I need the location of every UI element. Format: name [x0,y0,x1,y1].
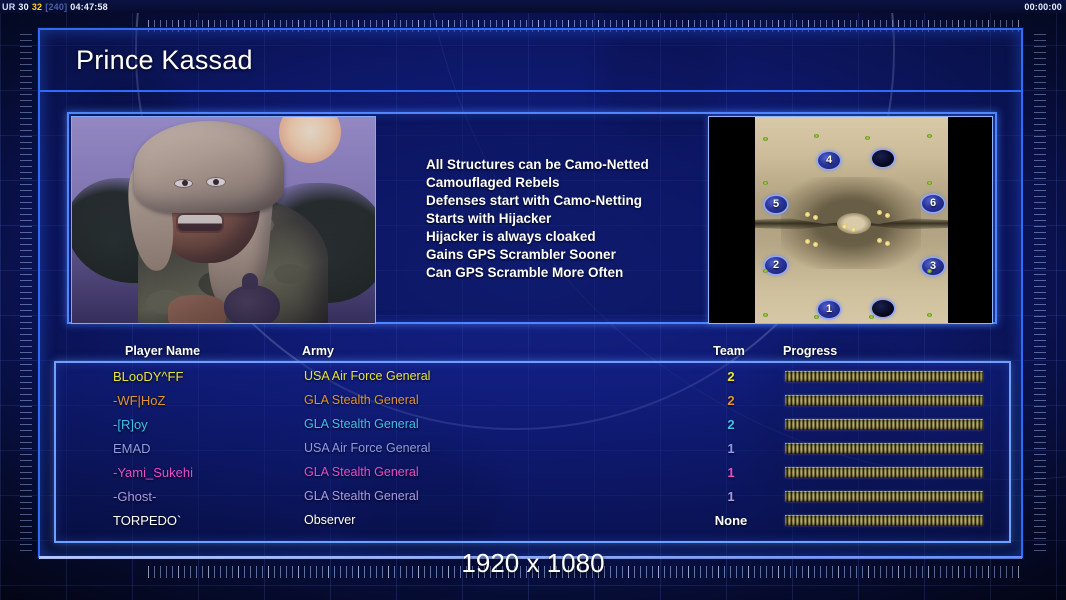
progress-bar [785,467,983,478]
portrait-color-tint [72,117,375,323]
status-clock-right: 00:00:00 [1024,2,1066,12]
progress-bar [785,443,983,454]
status-value-1: 30 [18,2,28,12]
table-row[interactable]: -Ghost-GLA Stealth General1 [56,484,1009,508]
player-army-cell: GLA Stealth General [304,489,689,503]
player-name-cell: -Yami_Sukehi [56,465,304,480]
column-header-army: Army [302,344,687,358]
map-oil-derrick-icon [877,238,882,243]
map-supply-icon [763,269,768,273]
player-army-cell: USA Air Force General [304,441,689,455]
progress-bar [785,491,983,502]
player-army-cell: GLA Stealth General [304,417,689,431]
map-oil-derrick-icon [813,242,818,247]
map-supply-icon [869,315,874,319]
player-team-cell: 2 [689,393,773,408]
ruler-left [20,34,32,554]
player-army-cell: Observer [304,513,689,527]
table-row[interactable]: TORPEDO`ObserverNone [56,508,1009,532]
player-name-cell: BLooDY^FF [56,369,304,384]
player-progress-cell [773,491,1009,502]
map-start-position-empty [872,150,894,167]
progress-bar [785,395,983,406]
table-row[interactable]: EMADUSA Air Force General1 [56,436,1009,460]
map-start-position-marker: 3 [922,258,944,275]
status-left-group: UR 30 32 [240] 04:47:58 [0,2,108,12]
player-name-cell: -WF|HoZ [56,393,304,408]
player-army-cell: GLA Stealth General [304,393,689,407]
player-team-cell: 1 [689,441,773,456]
map-supply-icon [814,134,819,138]
table-header-row: Player Name Army Team Progress [54,338,1011,360]
general-info-window: Prince Kassad All Structures can be Camo… [38,28,1023,558]
map-supply-icon [927,134,932,138]
ability-line: Defenses start with Camo-Netting [426,192,708,209]
player-progress-cell [773,443,1009,454]
player-name-cell: TORPEDO` [56,513,304,528]
ability-line: Camouflaged Rebels [426,174,708,191]
progress-bar [785,419,983,430]
progress-bar [785,371,983,382]
status-clock-left: 04:47:58 [70,2,108,12]
player-team-cell: None [689,513,773,528]
status-label-ur: UR [2,2,15,12]
map-start-position-empty [872,300,894,317]
map-oil-derrick-icon [885,213,890,218]
map-supply-icon [814,315,819,319]
column-header-progress: Progress [771,344,1011,358]
column-header-team: Team [687,344,771,358]
ruler-right [1034,34,1046,554]
player-team-cell: 2 [689,417,773,432]
ability-line: Hijacker is always cloaked [426,228,708,245]
player-progress-cell [773,467,1009,478]
ability-line: Starts with Hijacker [426,210,708,227]
map-oil-derrick-icon [851,227,856,232]
player-name-cell: EMAD [56,441,304,456]
map-start-position-marker: 2 [765,257,787,274]
map-supply-icon [927,181,932,185]
map-supply-icon [763,181,768,185]
map-supply-icon [763,313,768,317]
page-title: Prince Kassad [40,45,253,76]
map-oil-derrick-icon [805,212,810,217]
player-name-cell: -Ghost- [56,489,304,504]
map-supply-icon [927,313,932,317]
table-row[interactable]: BLooDY^FFUSA Air Force General2 [56,364,1009,388]
map-preview[interactable]: 456231 [708,116,993,324]
map-supply-icon [865,136,870,140]
resolution-label: 1920 x 1080 [0,548,1066,579]
table-row[interactable]: -Yami_SukehiGLA Stealth General1 [56,460,1009,484]
player-progress-cell [773,371,1009,382]
top-status-bar: UR 30 32 [240] 04:47:58 00:00:00 [0,0,1066,13]
progress-bar [785,515,983,526]
map-oil-derrick-icon [805,239,810,244]
ability-line: Gains GPS Scrambler Sooner [426,246,708,263]
map-oil-derrick-icon [885,241,890,246]
map-start-position-marker: 4 [818,152,840,169]
map-start-position-marker: 5 [765,196,787,213]
player-army-cell: GLA Stealth General [304,465,689,479]
map-start-position-marker: 1 [818,301,840,318]
map-supply-icon [763,137,768,141]
column-header-player-name: Player Name [54,344,302,358]
map-oil-derrick-icon [877,210,882,215]
table-row[interactable]: -[R]oyGLA Stealth General2 [56,412,1009,436]
map-oil-derrick-icon [842,224,847,229]
map-supply-icon [927,269,932,273]
status-bracket: [240] [45,2,67,12]
status-value-2: 32 [32,2,42,12]
player-progress-cell [773,419,1009,430]
player-progress-cell [773,515,1009,526]
player-progress-cell [773,395,1009,406]
table-row[interactable]: -WF|HoZGLA Stealth General2 [56,388,1009,412]
map-oil-derrick-icon [813,215,818,220]
player-team-cell: 2 [689,369,773,384]
player-army-cell: USA Air Force General [304,369,689,383]
map-start-position-marker: 6 [922,195,944,212]
table-body: BLooDY^FFUSA Air Force General2-WF|HoZGL… [54,361,1011,543]
title-band: Prince Kassad [40,30,1021,92]
general-portrait [71,116,376,324]
player-name-cell: -[R]oy [56,417,304,432]
player-table: Player Name Army Team Progress BLooDY^FF… [54,338,1011,546]
ability-line: All Structures can be Camo-Netted [426,156,708,173]
ability-line: Can GPS Scramble More Often [426,264,708,281]
player-team-cell: 1 [689,465,773,480]
ability-list: All Structures can be Camo-NettedCamoufl… [378,114,708,322]
player-team-cell: 1 [689,489,773,504]
general-info-panel: All Structures can be Camo-NettedCamoufl… [67,112,997,324]
